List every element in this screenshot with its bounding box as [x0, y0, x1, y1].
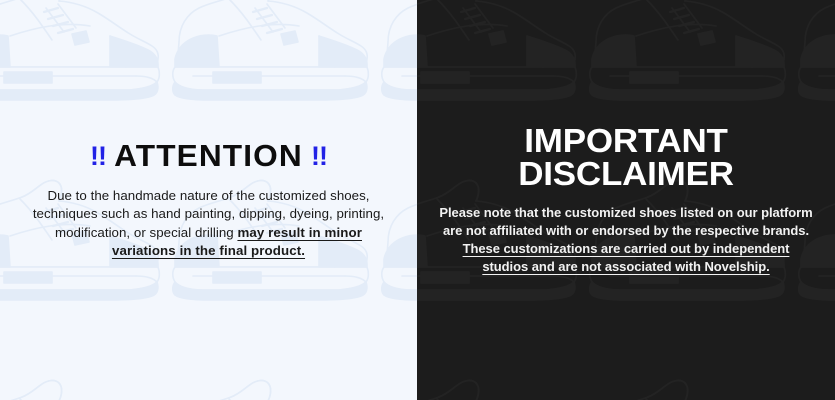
- attention-body: Due to the handmade nature of the custom…: [26, 187, 391, 261]
- disclaimer-banner: !!ATTENTION!! Due to the handmade nature…: [0, 0, 835, 400]
- disclaimer-content: IMPORTANT DISCLAIMER Please note that th…: [417, 124, 835, 277]
- exclamation-right-icon: !!: [308, 141, 330, 171]
- disclaimer-body: Please note that the customized shoes li…: [439, 204, 813, 277]
- attention-content: !!ATTENTION!! Due to the handmade nature…: [0, 140, 417, 261]
- disclaimer-body-emphasis: These customizations are carried out by …: [463, 241, 790, 274]
- exclamation-left-icon: !!: [87, 141, 109, 171]
- attention-headline-word: ATTENTION: [107, 140, 310, 171]
- disclaimer-panel: IMPORTANT DISCLAIMER Please note that th…: [417, 0, 835, 400]
- disclaimer-headline-line2: DISCLAIMER: [428, 157, 824, 190]
- disclaimer-headline-line1: IMPORTANT: [428, 124, 824, 157]
- disclaimer-body-normal: Please note that the customized shoes li…: [439, 205, 812, 238]
- disclaimer-headline: IMPORTANT DISCLAIMER: [439, 124, 813, 190]
- attention-panel: !!ATTENTION!! Due to the handmade nature…: [0, 0, 417, 400]
- attention-headline: !!ATTENTION!!: [26, 140, 391, 171]
